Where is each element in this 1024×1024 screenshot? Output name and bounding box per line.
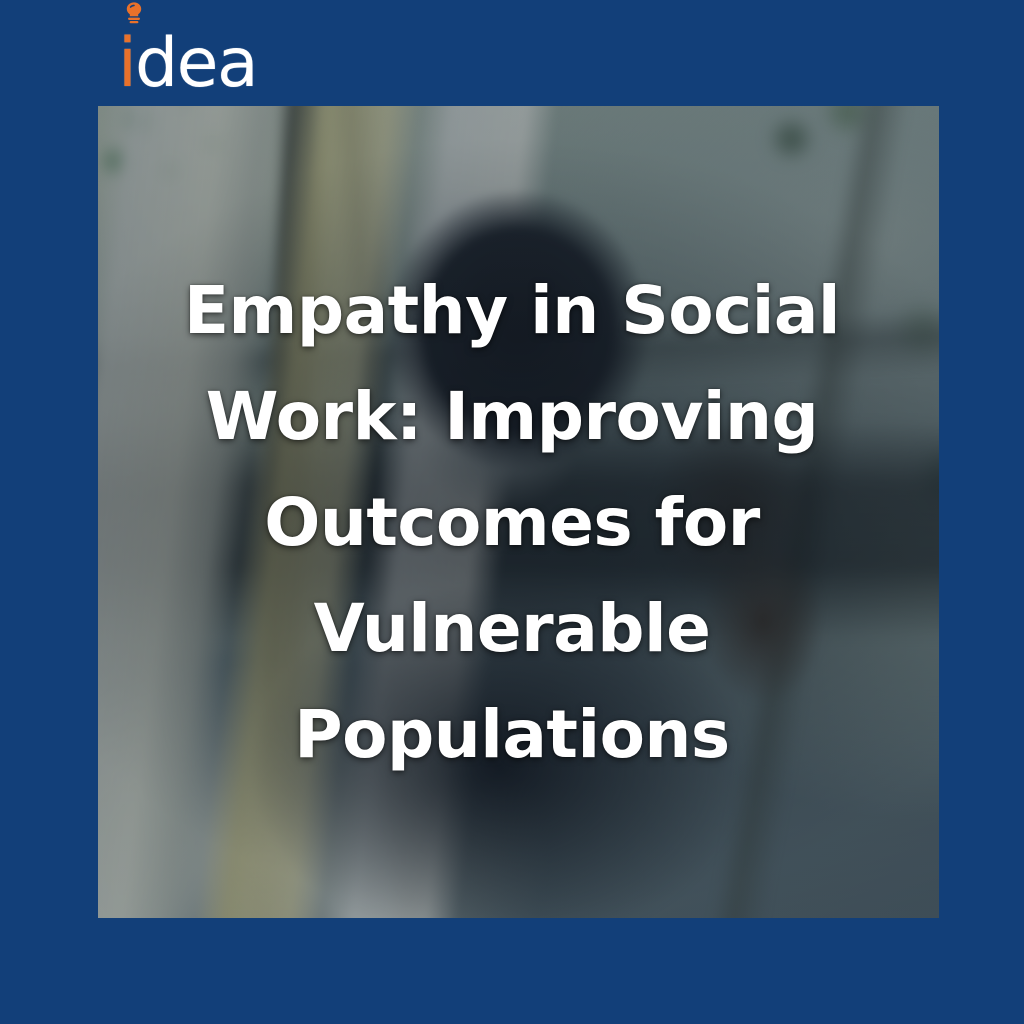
page-title: Empathy in Social Work: Improving Outcom… [0, 258, 1024, 788]
brand-wordmark: i dea [118, 30, 257, 98]
brand-logo[interactable]: i dea [118, 16, 257, 98]
poster-canvas: i dea Empathy in Social Work: Improving … [0, 0, 1024, 1024]
brand-remainder-letters: dea [135, 30, 257, 98]
title-line: Outcomes for [60, 470, 964, 576]
title-line: Empathy in Social [60, 258, 964, 364]
title-line: Vulnerable [60, 576, 964, 682]
brand-initial-letter: i [118, 30, 135, 98]
title-line: Populations [60, 682, 964, 788]
title-line: Work: Improving [60, 364, 964, 470]
